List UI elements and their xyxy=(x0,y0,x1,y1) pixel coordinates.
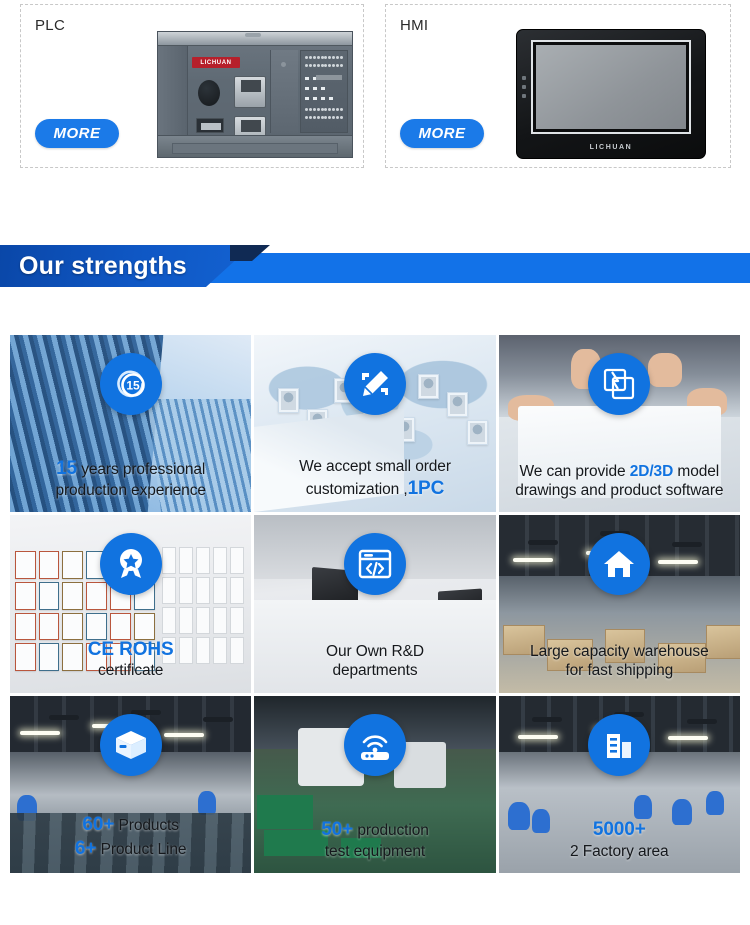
page-title: Our strengths xyxy=(19,245,187,287)
pencil-customization-icon xyxy=(344,353,406,415)
banner-right-bar xyxy=(190,253,750,283)
strength-caption: 60+ Products 6+ Product Line xyxy=(14,813,247,861)
product-panel-plc[interactable]: PLC LICHUAN xyxy=(20,4,364,168)
svg-text:15: 15 xyxy=(126,379,140,393)
strength-caption: Our Own R&D departments xyxy=(258,642,491,681)
more-button-hmi[interactable]: MORE xyxy=(400,119,484,148)
strength-caption: 50+ production test equipment xyxy=(258,818,491,861)
section-banner: Our strengths xyxy=(0,245,750,287)
strength-caption: We can provide 2D/3D model drawings and … xyxy=(503,462,736,501)
strength-card[interactable]: 50+ production test equipment xyxy=(254,696,495,873)
hmi-brand-logo: LICHUAN xyxy=(517,144,705,151)
strength-card[interactable]: 60+ Products 6+ Product Line xyxy=(10,696,251,873)
hmi-device-image: LICHUAN xyxy=(516,29,706,159)
product-panel-label: PLC xyxy=(35,17,65,34)
award-medal-icon xyxy=(100,533,162,595)
strength-caption: 15 years professional production experie… xyxy=(14,457,247,500)
strength-card[interactable]: 5000+ 2 Factory area xyxy=(499,696,740,873)
factory-building-icon xyxy=(588,714,650,776)
warehouse-home-icon xyxy=(588,533,650,595)
strength-caption: We accept small order customization ,1PC xyxy=(258,457,491,500)
strength-card[interactable]: CE ROHS certificate xyxy=(10,515,251,692)
plc-brand-logo: LICHUAN xyxy=(192,57,240,68)
product-box-icon xyxy=(100,714,162,776)
strength-card[interactable]: Large capacity warehouse for fast shippi… xyxy=(499,515,740,692)
product-panels-row: PLC LICHUAN xyxy=(0,0,750,172)
calendar-15-years-icon: 15 xyxy=(100,353,162,415)
code-window-icon xyxy=(344,533,406,595)
strength-caption: 5000+ 2 Factory area xyxy=(503,818,736,861)
plc-device-image: LICHUAN xyxy=(157,31,353,158)
strength-card[interactable]: Our Own R&D departments xyxy=(254,515,495,692)
strength-caption: Large capacity warehouse for fast shippi… xyxy=(503,642,736,681)
strength-card[interactable]: We accept small order customization ,1PC xyxy=(254,335,495,512)
product-panel-hmi[interactable]: HMI LICHUAN MORE xyxy=(385,4,731,168)
strength-card[interactable]: We can provide 2D/3D model drawings and … xyxy=(499,335,740,512)
strengths-grid: 15 15 years professional production expe… xyxy=(10,335,740,873)
strength-card[interactable]: 15 15 years professional production expe… xyxy=(10,335,251,512)
more-button-plc[interactable]: MORE xyxy=(35,119,119,148)
router-test-icon xyxy=(344,714,406,776)
strength-caption: CE ROHS certificate xyxy=(14,638,247,681)
cad-drawing-icon xyxy=(588,353,650,415)
product-panel-label: HMI xyxy=(400,17,428,34)
